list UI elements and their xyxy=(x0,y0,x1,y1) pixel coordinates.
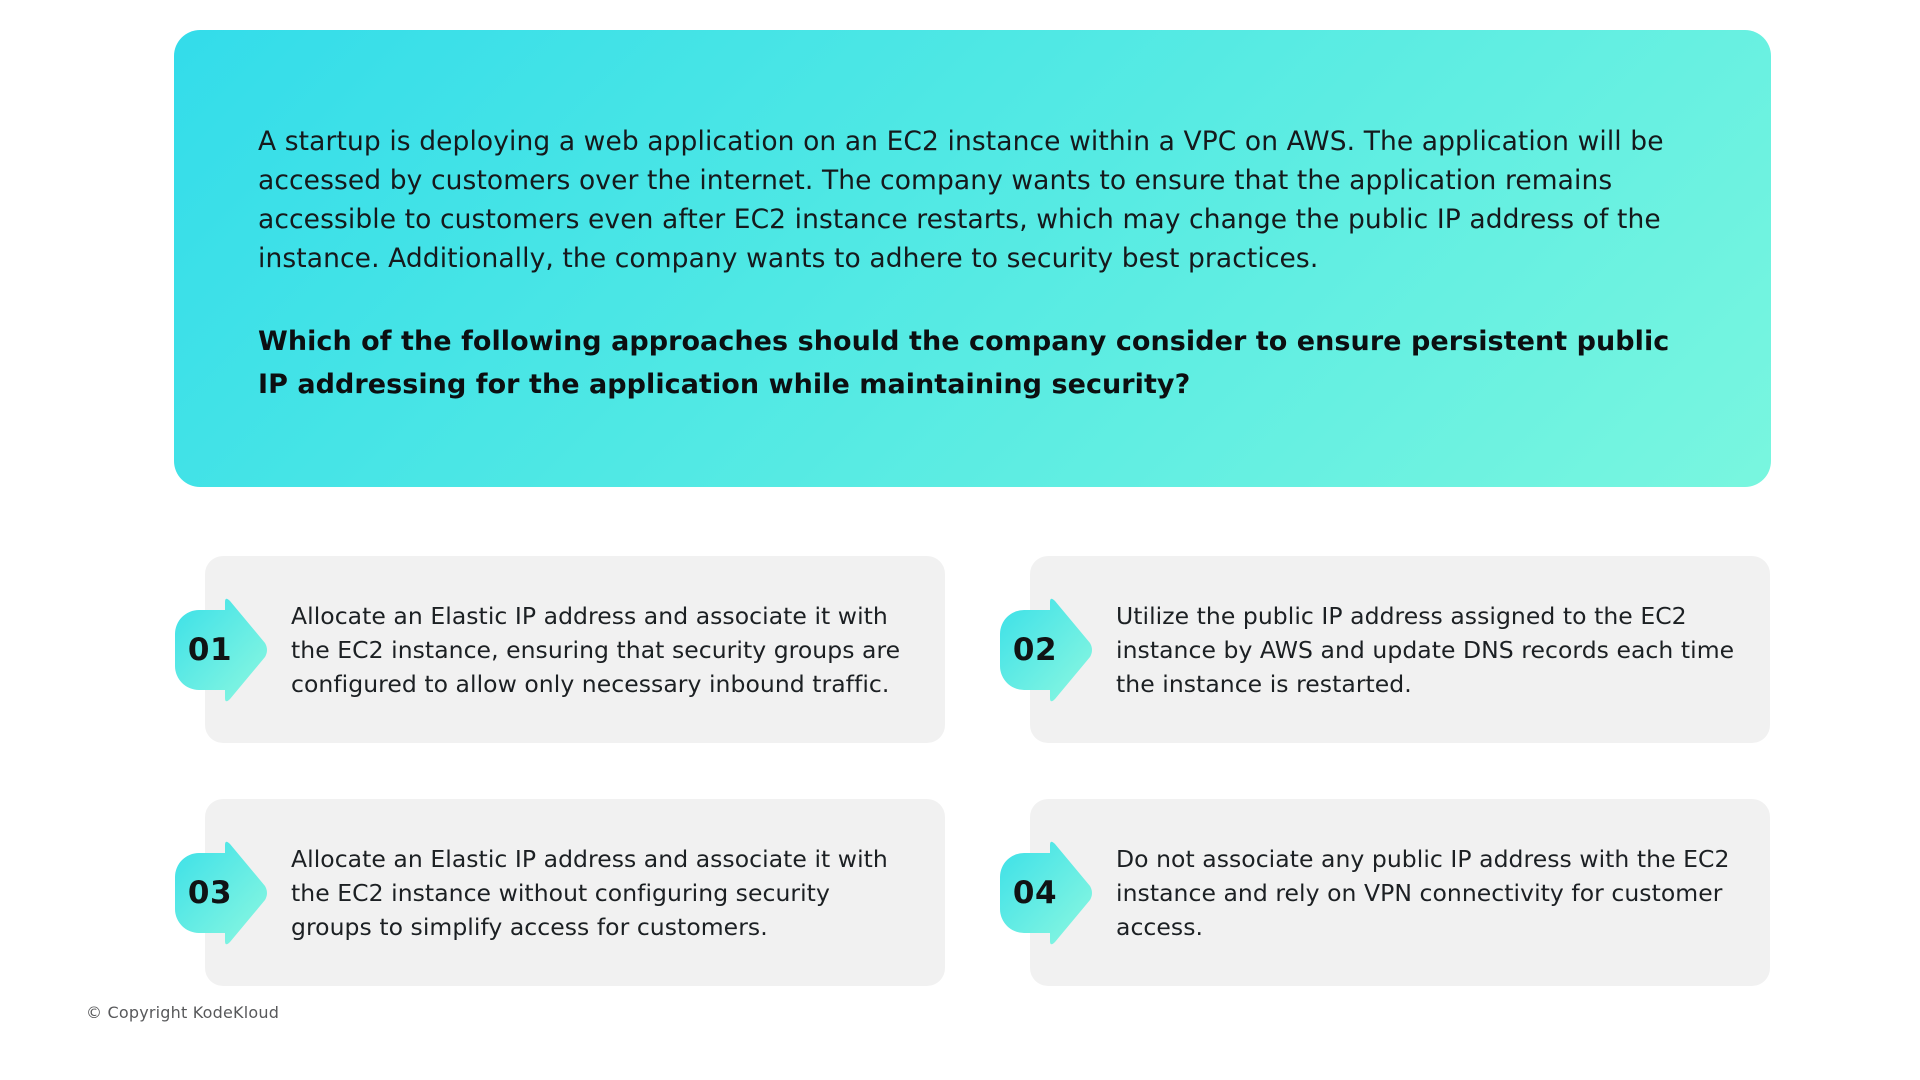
question-banner: A startup is deploying a web application… xyxy=(174,30,1771,487)
scenario-paragraph: A startup is deploying a web application… xyxy=(258,122,1687,278)
option-text-02: Utilize the public IP address assigned t… xyxy=(1116,599,1742,701)
options-grid: 01 Allocate an Elastic IP address and as… xyxy=(205,556,1770,986)
arrow-badge-icon: 04 xyxy=(992,841,1096,945)
option-number-02: 02 xyxy=(1013,632,1057,668)
option-card-02[interactable]: 02 Utilize the public IP address assigne… xyxy=(1030,556,1770,743)
arrow-badge-icon: 01 xyxy=(167,598,271,702)
question-prompt: Which of the following approaches should… xyxy=(258,320,1687,406)
option-text-04: Do not associate any public IP address w… xyxy=(1116,842,1742,944)
option-text-03: Allocate an Elastic IP address and assoc… xyxy=(291,842,917,944)
option-card-04[interactable]: 04 Do not associate any public IP addres… xyxy=(1030,799,1770,986)
option-number-03: 03 xyxy=(188,875,232,911)
arrow-badge-icon: 02 xyxy=(992,598,1096,702)
slide-root: A startup is deploying a web application… xyxy=(0,0,1920,1080)
option-number-04: 04 xyxy=(1013,875,1057,911)
option-card-03[interactable]: 03 Allocate an Elastic IP address and as… xyxy=(205,799,945,986)
copyright-notice: © Copyright KodeKloud xyxy=(86,1003,279,1022)
option-card-01[interactable]: 01 Allocate an Elastic IP address and as… xyxy=(205,556,945,743)
arrow-badge-icon: 03 xyxy=(167,841,271,945)
option-text-01: Allocate an Elastic IP address and assoc… xyxy=(291,599,917,701)
option-number-01: 01 xyxy=(188,632,232,668)
